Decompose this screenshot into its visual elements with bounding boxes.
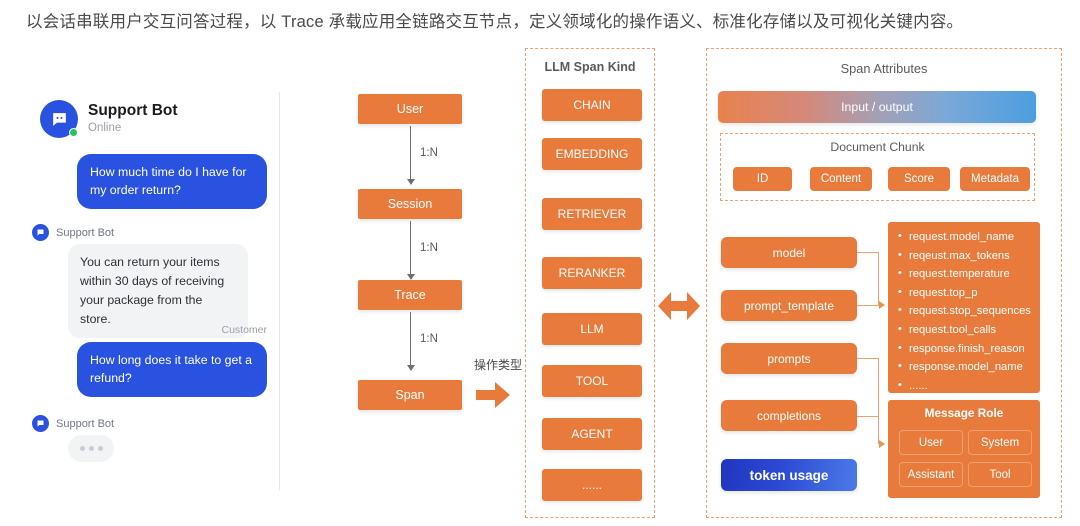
document-chunk-title: Document Chunk <box>721 140 1034 154</box>
doc-chunk-chip-id[interactable]: ID <box>733 167 792 191</box>
typing-indicator <box>68 435 114 462</box>
span-kind-embedding[interactable]: EMBEDDING <box>542 138 642 170</box>
slide-canvas: 以会话串联用户交互问答过程，以 Trace 承载应用全链路交互节点，定义领域化的… <box>0 0 1080 526</box>
role-chip-system[interactable]: System <box>968 430 1032 455</box>
flow-edge-1 <box>410 126 411 184</box>
chat-preview-panel: Support Bot Online How much time do I ha… <box>12 92 280 490</box>
flow-node-span: Span <box>358 380 462 410</box>
role-chip-user[interactable]: User <box>899 430 963 455</box>
chat-bubble-icon <box>50 110 69 129</box>
flow-edge-label-1: 1:N <box>420 147 438 159</box>
input-output-bar: Input / output <box>718 91 1036 123</box>
role-chip-tool[interactable]: Tool <box>968 462 1032 487</box>
span-kind-agent[interactable]: AGENT <box>542 418 642 450</box>
flow-edge-3 <box>410 312 411 370</box>
attr-chip-prompt-template[interactable]: prompt_template <box>721 290 857 321</box>
message-bubble-user-1: How much time do I have for my order ret… <box>77 154 267 209</box>
list-item: response.finish_reason <box>898 340 1036 359</box>
message-role-title: Message Role <box>888 406 1040 420</box>
message-role-box: Message Role User System Assistant Tool <box>888 400 1040 498</box>
connector-arrow-top <box>879 301 885 309</box>
bot-message-label-2: Support Bot <box>32 415 114 432</box>
list-item: response.model_name <box>898 358 1036 377</box>
bot-message-label-1: Support Bot <box>32 224 114 241</box>
list-item: request.model_name <box>898 228 1036 247</box>
doc-chunk-chip-content[interactable]: Content <box>810 167 872 191</box>
customer-label: Customer <box>221 324 267 336</box>
attr-chip-model[interactable]: model <box>721 237 857 268</box>
connector-model <box>857 252 879 253</box>
message-bubble-user-2: How long does it take to get a refund? <box>77 342 267 397</box>
bot-label-text: Support Bot <box>56 227 114 239</box>
doc-chunk-chip-score[interactable]: Score <box>888 167 950 191</box>
attr-chip-completions[interactable]: completions <box>721 400 857 431</box>
attr-chip-prompts[interactable]: prompts <box>721 343 857 374</box>
doc-chunk-chip-metadata[interactable]: Metadata <box>960 167 1030 191</box>
bot-identity: Support Bot Online <box>88 102 178 136</box>
connector-completions <box>857 416 879 417</box>
bot-status: Online <box>88 121 178 136</box>
list-item: request.temperature <box>898 265 1036 284</box>
page-title: 以会话串联用户交互问答过程，以 Trace 承载应用全链路交互节点，定义领域化的… <box>26 8 1066 32</box>
llm-span-kind-title: LLM Span Kind <box>526 60 654 74</box>
flow-node-trace: Trace <box>358 280 462 310</box>
attr-chip-token-usage[interactable]: token usage <box>721 459 857 491</box>
span-attributes-title: Span Attributes <box>707 61 1061 76</box>
flow-node-user: User <box>358 94 462 124</box>
bot-avatar <box>40 100 78 138</box>
list-item: request.stop_sequences <box>898 302 1036 321</box>
bot-avatar-small <box>32 224 49 241</box>
chat-bubble-icon <box>36 228 45 237</box>
span-kind-llm[interactable]: LLM <box>542 313 642 345</box>
chat-header: Support Bot Online <box>40 100 178 138</box>
connector-vertical-role <box>878 416 879 444</box>
span-kind-chain[interactable]: CHAIN <box>542 89 642 121</box>
operation-type-label: 操作类型 <box>474 356 522 373</box>
flow-edge-label-2: 1:N <box>420 242 438 254</box>
bot-name: Support Bot <box>88 102 178 120</box>
bot-label-text: Support Bot <box>56 418 114 430</box>
typing-dot <box>80 446 85 451</box>
list-item: request.tool_calls <box>898 321 1036 340</box>
connector-prompt-template <box>857 305 879 306</box>
llm-attribute-list: request.model_name reqeust.max_tokens re… <box>888 222 1040 393</box>
span-kind-more[interactable]: ...... <box>542 469 642 501</box>
role-chip-assistant[interactable]: Assistant <box>899 462 963 487</box>
connector-prompts <box>857 358 879 359</box>
online-status-dot <box>69 128 78 137</box>
bidirectional-arrow-icon <box>658 288 700 324</box>
connector-arrow-bottom <box>879 440 885 448</box>
list-item: reqeust.max_tokens <box>898 247 1036 266</box>
chat-bubble-icon <box>36 419 45 428</box>
typing-dot <box>98 446 103 451</box>
right-arrow-icon <box>476 382 510 408</box>
list-item: ...... <box>898 377 1036 393</box>
span-kind-reranker[interactable]: RERANKER <box>542 257 642 289</box>
list-item: request.top_p <box>898 284 1036 303</box>
flow-edge-2 <box>410 221 411 279</box>
connector-vertical-bottom <box>878 358 879 416</box>
flow-edge-label-3: 1:N <box>420 333 438 345</box>
typing-dot <box>89 446 94 451</box>
span-kind-tool[interactable]: TOOL <box>542 365 642 397</box>
connector-vertical-top <box>878 252 879 305</box>
span-kind-retriever[interactable]: RETRIEVER <box>542 198 642 230</box>
bot-avatar-small <box>32 415 49 432</box>
flow-node-session: Session <box>358 189 462 219</box>
